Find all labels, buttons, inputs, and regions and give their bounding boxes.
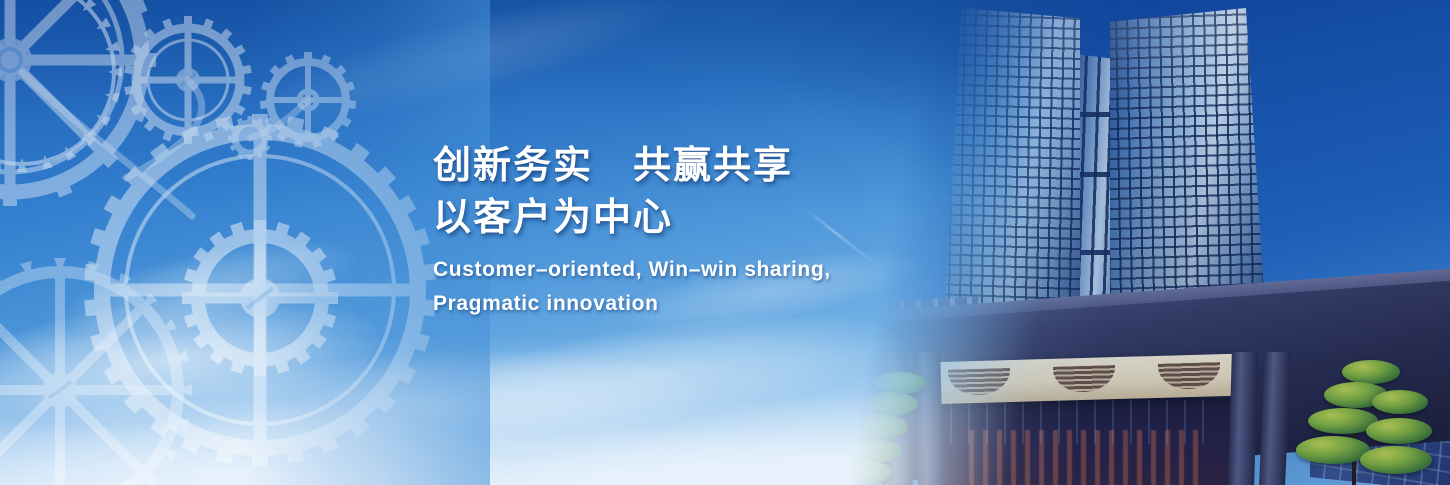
slogan-block: 创新务实 共赢共享 以客户为中心 Customer–oriented, Win–… xyxy=(433,140,993,321)
headline-line-2: 以客户为中心 xyxy=(433,192,993,244)
subtitle-line-2: Pragmatic innovation xyxy=(433,287,993,321)
headline-line-1: 创新务实 共赢共享 xyxy=(433,140,993,192)
subtitle-line-1: Customer–oriented, Win–win sharing, xyxy=(433,253,993,287)
hero-banner: .gr { fill:none; stroke:#ffffff; } xyxy=(0,0,1450,485)
